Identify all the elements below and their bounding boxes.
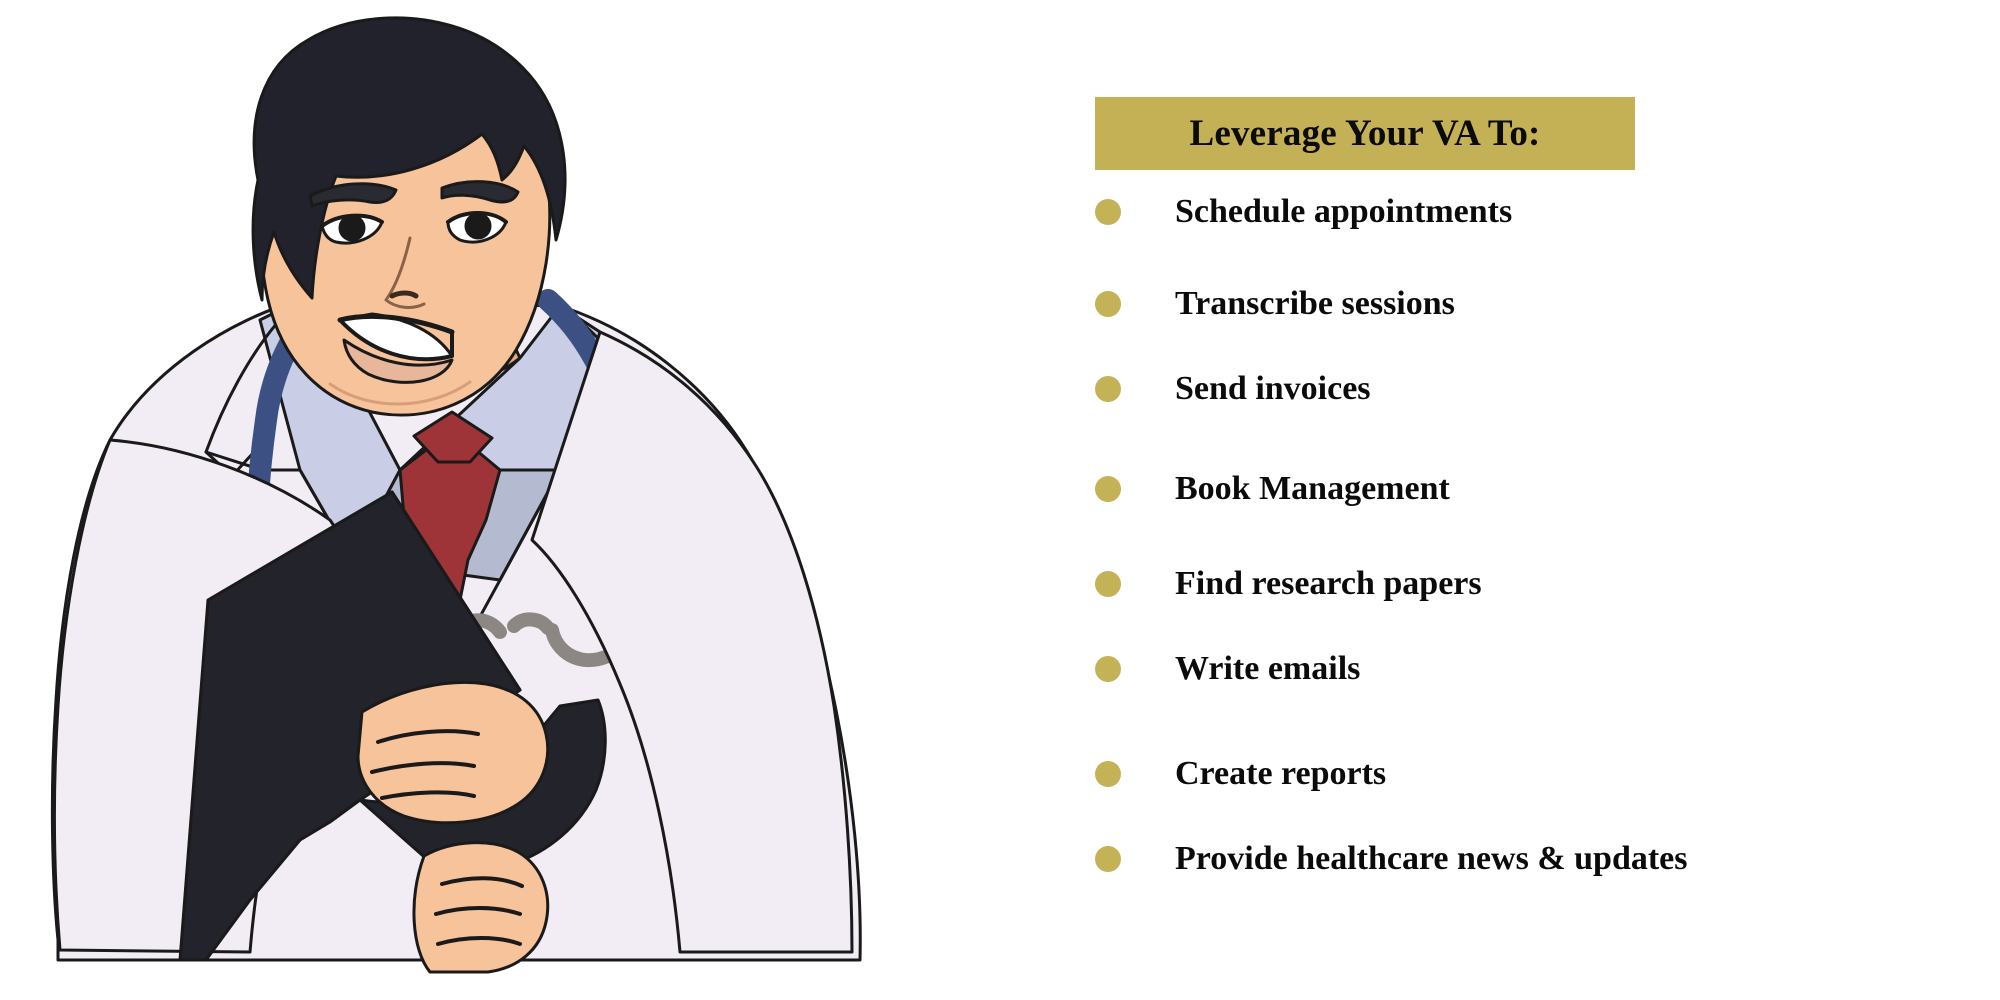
- slide-canvas: Leverage Your VA To: Schedule appointmen…: [0, 0, 2000, 1000]
- banner-title: Leverage Your VA To:: [1189, 115, 1540, 152]
- hand-upper: [358, 682, 548, 822]
- list-item-label: Send invoices: [1175, 372, 1371, 406]
- list-item[interactable]: Find research papers: [1095, 562, 1482, 606]
- list-item-label: Write emails: [1175, 652, 1360, 686]
- bullet-dot-icon: [1095, 571, 1121, 597]
- list-item[interactable]: Send invoices: [1095, 367, 1371, 411]
- bullet-dot-icon: [1095, 199, 1121, 225]
- banner: Leverage Your VA To:: [1095, 97, 1635, 170]
- bullet-dot-icon: [1095, 656, 1121, 682]
- hand-lower: [414, 843, 548, 972]
- list-item-label: Provide healthcare news & updates: [1175, 842, 1688, 876]
- list-item[interactable]: Provide healthcare news & updates: [1095, 837, 1688, 881]
- list-item-label: Transcribe sessions: [1175, 287, 1455, 321]
- list-item[interactable]: Write emails: [1095, 647, 1360, 691]
- content-column: Leverage Your VA To: Schedule appointmen…: [1095, 0, 1955, 1000]
- list-item[interactable]: Book Management: [1095, 467, 1450, 511]
- list-item-label: Find research papers: [1175, 567, 1482, 601]
- bullet-dot-icon: [1095, 291, 1121, 317]
- list-item[interactable]: Create reports: [1095, 752, 1386, 796]
- bullet-dot-icon: [1095, 476, 1121, 502]
- doctor-illustration: [0, 0, 1000, 1000]
- list-item-label: Book Management: [1175, 472, 1450, 506]
- list-item-label: Create reports: [1175, 757, 1386, 791]
- list-item[interactable]: Schedule appointments: [1095, 190, 1512, 234]
- bullet-dot-icon: [1095, 761, 1121, 787]
- list-item[interactable]: Transcribe sessions: [1095, 282, 1455, 326]
- bullet-dot-icon: [1095, 376, 1121, 402]
- bullet-dot-icon: [1095, 846, 1121, 872]
- list-item-label: Schedule appointments: [1175, 195, 1512, 229]
